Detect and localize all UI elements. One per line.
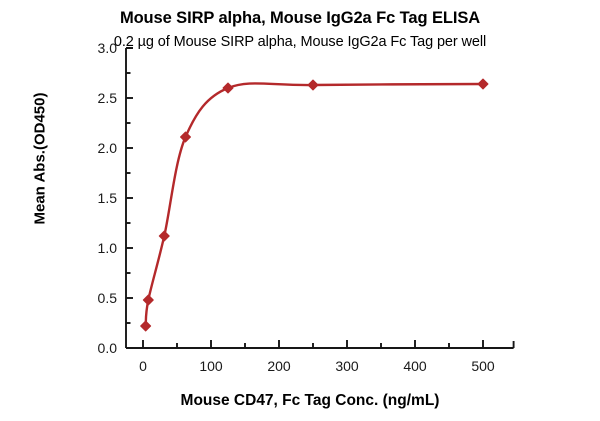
plot-area: 0.00.51.01.52.02.53.00100200300400500: [0, 0, 600, 421]
data-point-marker: [478, 79, 488, 89]
y-axis-tick-label: 1.5: [98, 190, 118, 206]
data-point-marker: [181, 132, 191, 142]
x-axis-tick-label: 400: [403, 358, 427, 374]
y-axis-tick-label: 1.0: [98, 240, 118, 256]
y-axis-tick-label: 0.0: [98, 340, 118, 356]
data-point-marker: [223, 83, 233, 93]
y-axis-tick-label: 0.5: [98, 290, 118, 306]
axes-group: 0.00.51.01.52.02.53.00100200300400500: [98, 40, 514, 374]
data-point-marker: [141, 321, 151, 331]
y-axis-tick-label: 2.5: [98, 90, 118, 106]
x-axis-tick-label: 500: [471, 358, 495, 374]
y-axis-tick-label: 3.0: [98, 40, 118, 56]
x-axis-tick-label: 300: [335, 358, 359, 374]
data-point-marker: [159, 231, 169, 241]
x-axis-tick-label: 100: [199, 358, 223, 374]
elisa-binding-curve-figure: Mouse SIRP alpha, Mouse IgG2a Fc Tag ELI…: [0, 0, 600, 421]
data-series-group: [141, 79, 488, 331]
x-axis-tick-label: 200: [267, 358, 291, 374]
data-point-marker: [143, 295, 153, 305]
x-axis-tick-label: 0: [139, 358, 147, 374]
data-series-line: [146, 83, 483, 326]
y-axis-tick-label: 2.0: [98, 140, 118, 156]
data-point-marker: [308, 80, 318, 90]
